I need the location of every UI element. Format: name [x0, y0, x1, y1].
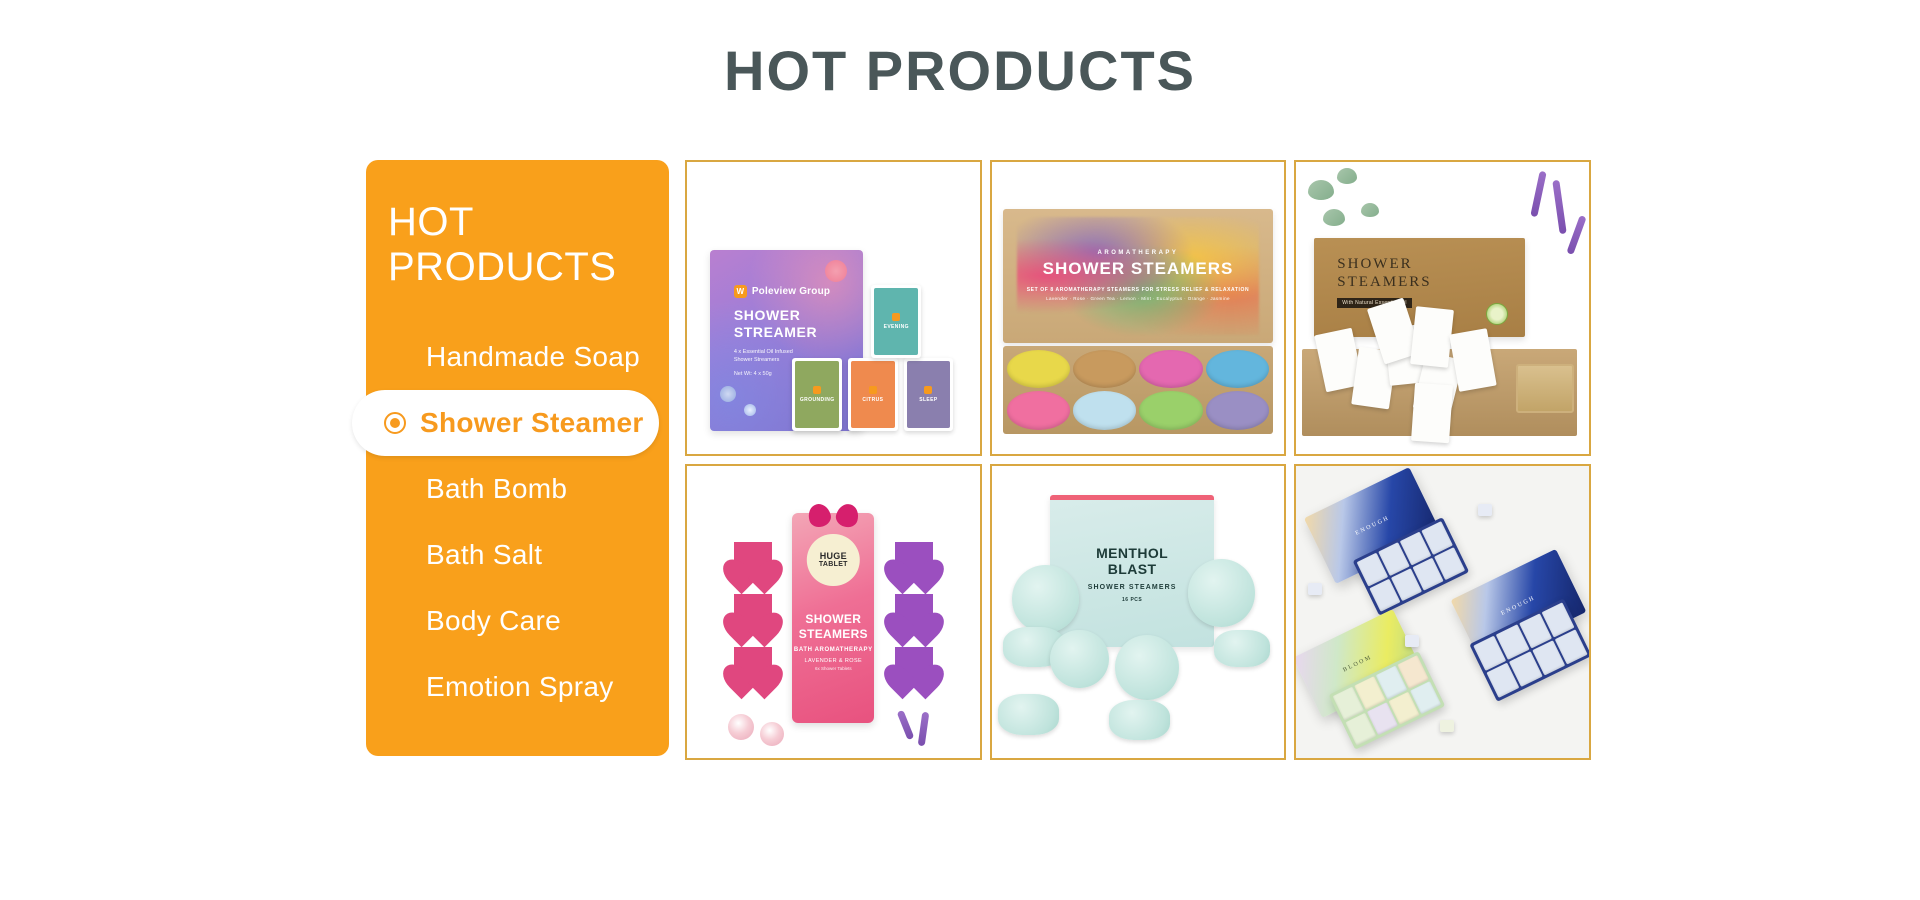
lavender-sprig-icon	[918, 712, 930, 747]
eucalyptus-leaf-icon	[1361, 203, 1379, 217]
wooden-soap-dish	[1516, 364, 1575, 414]
sidebar-item-bath-bomb[interactable]: Bath Bomb	[366, 456, 669, 522]
flower-decor-icon	[744, 404, 756, 416]
product-image-2: AROMATHERAPY SHOWER STEAMERS SET OF 8 AR…	[992, 162, 1285, 454]
product-box-art-5: MENTHOL BLAST SHOWER STEAMERS 16 PCS	[1050, 495, 1214, 647]
rose-flower-icon	[760, 722, 784, 746]
loose-sachet-cube	[1440, 720, 1454, 732]
product-box-art-2: AROMATHERAPY SHOWER STEAMERS SET OF 8 AR…	[1003, 209, 1272, 343]
steamer-puck	[1007, 391, 1070, 429]
scent-label: SLEEP	[919, 397, 937, 403]
sidebar-item-label: Bath Bomb	[426, 473, 567, 505]
flower-decor-icon	[825, 260, 847, 282]
product-card-enough-bloom-gift-boxes[interactable]: ENOUGH ENOUGH	[1294, 464, 1591, 760]
lavender-sprig-icon	[1552, 179, 1566, 233]
product-card-menthol-blast[interactable]: MENTHOL BLAST SHOWER STEAMERS 16 PCS	[990, 464, 1287, 760]
steamer-puck	[1206, 391, 1269, 429]
product-card-kraft-essential-oil-set[interactable]: SHOWER STEAMERS With Natural Essential O…	[1294, 160, 1591, 456]
steamer-disc	[1214, 630, 1270, 668]
steamer-disc	[1109, 700, 1170, 741]
sidebar-item-handmade-soap[interactable]: Handmade Soap	[366, 324, 669, 390]
box-text-block-2: AROMATHERAPY SHOWER STEAMERS SET OF 8 AR…	[1003, 209, 1272, 343]
lavender-sprig-icon	[1567, 215, 1587, 255]
poleview-logo-icon	[869, 386, 877, 394]
scent-label: EVENING	[884, 324, 909, 330]
scent-box-sleep: SLEEP	[904, 358, 954, 431]
steamer-disc	[998, 694, 1059, 735]
lavender-sprig-icon	[1530, 171, 1546, 217]
scent-box-grounding: GROUNDING	[792, 358, 842, 431]
product-image-5: MENTHOL BLAST SHOWER STEAMERS 16 PCS	[992, 466, 1285, 758]
steamer-packet	[1411, 383, 1453, 444]
steamer-puck	[1073, 391, 1136, 429]
loose-sachet-cube	[1405, 635, 1419, 647]
product-box-art-4: HUGE TABLET SHOWER STEAMERS BATH AROMATH…	[792, 513, 874, 723]
heart-steamer	[895, 542, 933, 580]
product-description-2: SET OF 8 AROMATHERAPY STEAMERS FOR STRES…	[1027, 287, 1250, 293]
sidebar-item-bath-salt[interactable]: Bath Salt	[366, 522, 669, 588]
product-title-5: MENTHOL BLAST	[1096, 545, 1168, 577]
eucalyptus-leaf-icon	[1323, 209, 1345, 226]
category-sidebar: HOT PRODUCTS Handmade Soap Shower Steame…	[366, 160, 669, 756]
ribbon-bow-icon	[809, 498, 858, 532]
sidebar-item-emotion-spray[interactable]: Emotion Spray	[366, 654, 669, 720]
rose-flower-icon	[728, 714, 754, 740]
sidebar-item-label: Body Care	[426, 605, 561, 637]
heart-steamer	[734, 542, 772, 580]
product-image-4: HUGE TABLET SHOWER STEAMERS BATH AROMATH…	[687, 466, 980, 758]
poleview-logo-icon: W	[734, 285, 747, 298]
badge-line-2: TABLET	[819, 561, 848, 569]
heart-steamer	[895, 647, 933, 685]
product-image-3: SHOWER STEAMERS With Natural Essential O…	[1296, 162, 1589, 454]
product-image-6: ENOUGH ENOUGH	[1296, 466, 1589, 758]
loose-sachet-cube	[1308, 583, 1322, 595]
sidebar-item-label: Shower Steamer	[420, 407, 644, 439]
product-scent-list-2: Lavender · Rose · Green Tea · Lemon · Mi…	[1046, 296, 1230, 301]
steamer-packet	[1410, 306, 1454, 368]
loose-sachet-cube	[1478, 504, 1492, 516]
poleview-logo-icon	[924, 386, 932, 394]
sidebar-item-label: Handmade Soap	[426, 341, 640, 373]
radio-selected-icon	[384, 412, 406, 434]
scent-box-evening: EVENING	[871, 285, 921, 358]
scent-box-citrus: CITRUS	[848, 358, 898, 431]
product-card-lavender-rose-heart-steamers[interactable]: HUGE TABLET SHOWER STEAMERS BATH AROMATH…	[685, 464, 982, 760]
category-menu: Handmade Soap Shower Steamer Bath Bomb B…	[366, 324, 669, 720]
hot-products-page: HOT PRODUCTS HOT PRODUCTS Handmade Soap …	[0, 0, 1920, 900]
product-title-4: SHOWER STEAMERS	[799, 612, 868, 641]
steamer-disc	[1050, 630, 1109, 689]
heart-steamer	[895, 594, 933, 632]
steamer-disc	[1012, 565, 1079, 632]
product-card-aromatherapy-rainbow-box[interactable]: AROMATHERAPY SHOWER STEAMERS SET OF 8 AR…	[990, 160, 1287, 456]
steamer-puck	[1073, 350, 1136, 388]
product-subtitle-5: SHOWER STEAMERS	[1088, 584, 1177, 591]
poleview-logo-icon	[813, 386, 821, 394]
steamer-tray-2	[1003, 346, 1272, 434]
product-title-1: SHOWER STREAMER	[734, 307, 845, 342]
scent-label: GROUNDING	[800, 397, 835, 403]
badge-line-1: HUGE	[820, 551, 847, 561]
product-grid: W Poleview Group SHOWER STREAMER 4 x Ess…	[685, 160, 1591, 760]
steamer-disc	[1188, 559, 1255, 626]
scent-label: CITRUS	[862, 397, 883, 403]
product-kicker-2: AROMATHERAPY	[1098, 250, 1179, 256]
heart-steamer	[734, 594, 772, 632]
lavender-sprig-icon	[897, 710, 915, 740]
product-count-5: 16 PCS	[1122, 597, 1142, 603]
page-title: HOT PRODUCTS	[0, 40, 1920, 102]
sidebar-item-label: Bath Salt	[426, 539, 542, 571]
product-variant-4: LAVENDER & ROSE	[805, 658, 863, 664]
product-footnote-4: 6x Shower Tablets	[815, 666, 852, 671]
steamer-puck	[1007, 350, 1070, 388]
sidebar-title: HOT PRODUCTS	[366, 200, 669, 290]
eucalyptus-leaf-icon	[1337, 168, 1357, 184]
huge-tablet-badge: HUGE TABLET	[807, 534, 859, 586]
steamer-puck	[1139, 391, 1202, 429]
brand-name: Poleview Group	[752, 286, 830, 297]
product-image-1: W Poleview Group SHOWER STREAMER 4 x Ess…	[687, 162, 980, 454]
product-title-2: SHOWER STEAMERS	[1043, 259, 1234, 279]
sidebar-item-label: Emotion Spray	[426, 671, 614, 703]
heart-steamer	[734, 647, 772, 685]
content-area: HOT PRODUCTS Handmade Soap Shower Steame…	[366, 160, 1591, 760]
product-subtitle-4: BATH AROMATHERAPY	[794, 647, 873, 653]
flower-decor-icon	[720, 386, 736, 402]
steamer-puck	[1206, 350, 1269, 388]
brand-row: W Poleview Group	[734, 285, 845, 298]
quality-seal-icon	[1486, 303, 1508, 325]
sidebar-item-shower-steamer[interactable]: Shower Steamer	[352, 390, 659, 456]
eucalyptus-leaf-icon	[1308, 180, 1334, 200]
steamer-puck	[1139, 350, 1202, 388]
product-card-poleview-shower-streamer[interactable]: W Poleview Group SHOWER STREAMER 4 x Ess…	[685, 160, 982, 456]
sidebar-item-body-care[interactable]: Body Care	[366, 588, 669, 654]
steamer-disc	[1115, 635, 1179, 699]
poleview-logo-icon	[892, 313, 900, 321]
product-title-3: SHOWER STEAMERS	[1337, 255, 1524, 291]
